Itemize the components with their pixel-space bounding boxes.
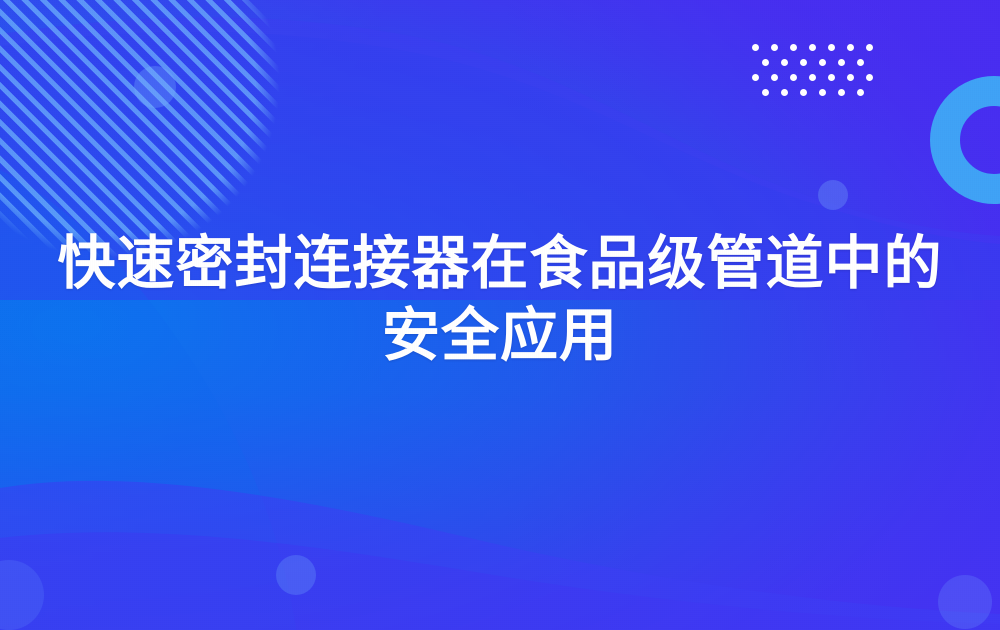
decorative-circle-icon (938, 575, 992, 629)
title-banner: 快速密封连接器在食品级管道中的安全应用 (0, 0, 1000, 630)
dot-matrix-dot (809, 44, 816, 51)
dot-matrix-dot (762, 89, 769, 96)
dot-matrix-dot (790, 44, 797, 51)
dot-matrix-dot (752, 74, 759, 81)
dot-matrix-dot (857, 89, 864, 96)
dot-matrix-dot (781, 89, 788, 96)
page-title: 快速密封连接器在食品级管道中的安全应用 (46, 228, 954, 372)
dot-matrix-dot (762, 59, 769, 66)
dot-matrix-dot (819, 59, 826, 66)
dot-matrix-dot (857, 59, 864, 66)
dot-matrix-dot (838, 59, 845, 66)
decorative-circle-icon (276, 555, 316, 595)
page-title-wrapper: 快速密封连接器在食品级管道中的安全应用 (0, 228, 1000, 372)
decorative-circle-icon (818, 180, 848, 210)
dot-matrix-dot (866, 44, 873, 51)
dot-matrix-dot (838, 89, 845, 96)
dot-matrix-dot (847, 44, 854, 51)
wave-shape-bottom (0, 370, 1000, 630)
dot-matrix-dot (809, 74, 816, 81)
dot-matrix-dot (819, 89, 826, 96)
dot-matrix-icon (752, 44, 874, 100)
dot-matrix-dot (771, 44, 778, 51)
dot-matrix-dot (800, 89, 807, 96)
dot-matrix-dot (847, 74, 854, 81)
dot-matrix-dot (828, 74, 835, 81)
dot-matrix-dot (790, 74, 797, 81)
dot-matrix-dot (752, 44, 759, 51)
decorative-circle-icon (134, 66, 176, 108)
dot-matrix-dot (800, 59, 807, 66)
dot-matrix-dot (866, 74, 873, 81)
dot-matrix-dot (781, 59, 788, 66)
dot-matrix-dot (828, 44, 835, 51)
dot-matrix-dot (771, 74, 778, 81)
